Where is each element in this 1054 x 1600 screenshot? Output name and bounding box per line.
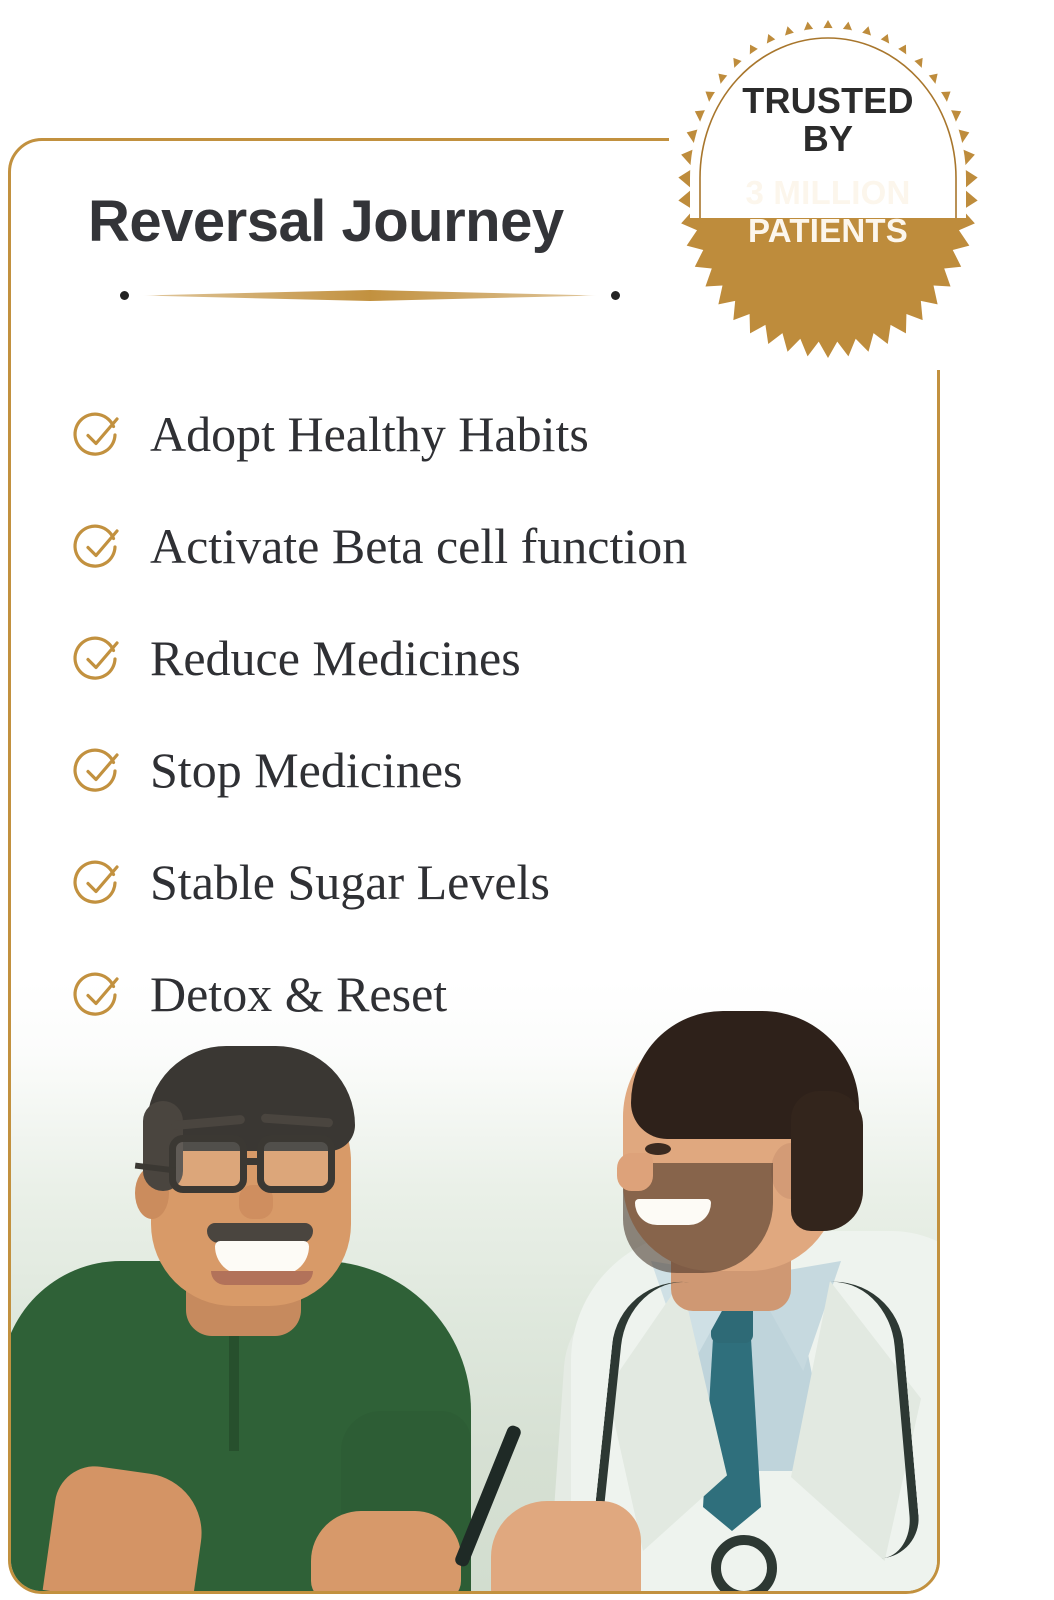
doctor-eye (645, 1143, 671, 1155)
list-item-label: Reduce Medicines (150, 633, 521, 683)
check-circle-icon (72, 632, 124, 684)
list-item: Detox & Reset (8, 938, 940, 1050)
check-circle-icon (72, 968, 124, 1020)
patient-doctor-photo (11, 981, 937, 1591)
check-circle-icon (72, 408, 124, 460)
patient-eyeglass-bridge (241, 1158, 263, 1165)
doctor-hair-side (791, 1091, 863, 1231)
divider-dot-left (120, 291, 129, 300)
divider-line (142, 290, 598, 301)
doctor-nose (617, 1153, 653, 1191)
doctor-smile (635, 1199, 711, 1225)
list-item: Stable Sugar Levels (8, 826, 940, 938)
patient-hands (311, 1511, 461, 1591)
title-divider (120, 286, 620, 306)
badge-bottom-panel (688, 218, 968, 222)
list-item-label: Activate Beta cell function (150, 521, 687, 571)
patient-eyeglass-left (169, 1135, 247, 1193)
patient-moustache (207, 1223, 313, 1243)
list-item-label: Stable Sugar Levels (150, 857, 550, 907)
patient-lower-lip (211, 1271, 313, 1285)
list-item: Reduce Medicines (8, 602, 940, 714)
check-circle-icon (72, 856, 124, 908)
trusted-by-badge: TRUSTED BY 3 MILLION PATIENTS (678, 20, 978, 358)
badge-top-panel (690, 28, 966, 218)
reversal-journey-checklist: Adopt Healthy Habits Activate Beta cell … (8, 378, 940, 1050)
list-item: Stop Medicines (8, 714, 940, 826)
check-circle-icon (72, 520, 124, 572)
doctor-hand (491, 1501, 641, 1591)
list-item-label: Stop Medicines (150, 745, 462, 795)
patient-smile (215, 1241, 309, 1275)
list-item-label: Detox & Reset (150, 969, 447, 1019)
list-item-label: Adopt Healthy Habits (150, 409, 589, 459)
patient-eyeglass-right (257, 1135, 335, 1193)
list-item: Activate Beta cell function (8, 490, 940, 602)
check-circle-icon (72, 744, 124, 796)
list-item: Adopt Healthy Habits (8, 378, 940, 490)
divider-dot-right (611, 291, 620, 300)
